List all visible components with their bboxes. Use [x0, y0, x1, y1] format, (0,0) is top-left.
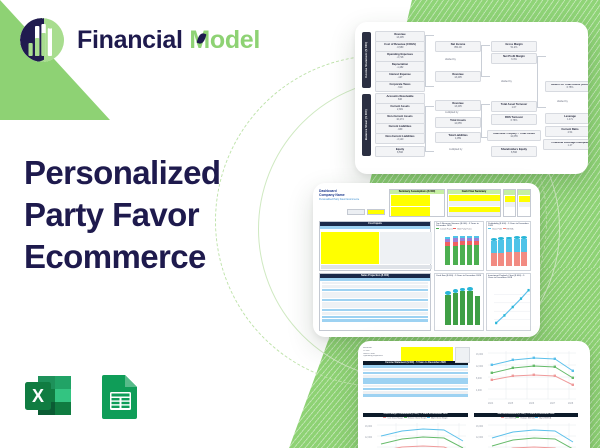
file-format-icons: X [22, 370, 146, 422]
tree-node: Non-Current Liabilities-3,120 [375, 133, 425, 144]
revenue-profit-chart: 16,00012,000 8,0004,000 2024202520262027… [474, 347, 578, 405]
headline-line-2: Party Favor [24, 194, 289, 236]
tree-node: Revenue13,495 [435, 100, 481, 111]
tree-node: Equity8,596 [375, 146, 425, 157]
summary-panel: Summary Assumptions ($ 000) [389, 189, 445, 217]
dupont-analysis-card[interactable]: Income Statement ($ 000) Balance Sheet (… [355, 22, 588, 174]
brand-logo[interactable]: Financial Model [18, 16, 260, 64]
svg-text:12,000: 12,000 [476, 437, 484, 439]
svg-text:12,000: 12,000 [365, 437, 373, 439]
svg-text:2026: 2026 [529, 403, 535, 405]
svg-text:8,000: 8,000 [476, 378, 482, 380]
tree-node: Corporate Taxes-510 [375, 81, 425, 92]
tree-operator: multiplied by [445, 111, 458, 114]
revenue-streams-chart: Top 5 Revenue Streams ($ 000) - 5 Years … [434, 221, 484, 271]
tree-operator: divided by [557, 100, 568, 103]
financial-model-circle-chart-logo [18, 16, 66, 64]
headline-line-3: Ecommerce [24, 236, 289, 278]
tree-node: ROS Turnover6.76% [491, 114, 537, 125]
income-statement-table: Revenue COGS Gross Profit Operating Expe… [363, 347, 468, 397]
section-label-balance-sheet: Balance Sheet ($ 000) [362, 94, 371, 156]
svg-text:4,000: 4,000 [476, 390, 482, 392]
tree-node: Gross Margin51.2% [491, 41, 537, 52]
tree-node: Financial Leverage multiplier1.47 [543, 139, 588, 150]
ebitda-chart: EBITDA Economics ($ 000) - 5 Years to De… [474, 413, 578, 448]
svg-text:16,000: 16,000 [476, 354, 484, 356]
financial-statements-card[interactable]: Revenue COGS Gross Profit Operating Expe… [358, 341, 590, 448]
brand-wordmark: Financial Model [77, 28, 260, 53]
cash-flow-chart: Cash flow ($ 000) - 5 Years to December … [434, 273, 484, 331]
google-sheets-icon[interactable] [94, 370, 146, 422]
tree-node: Shareholders Equity8,596 [491, 146, 537, 157]
statements-content: Revenue COGS Gross Profit Operating Expe… [358, 341, 590, 448]
dashboard-subtitle: Personalized Party Favor Ecommerce [319, 198, 359, 201]
svg-text:2025: 2025 [508, 403, 514, 405]
svg-text:12,000: 12,000 [476, 366, 484, 368]
tree-node: Total Debt + Equity = Total Assets12,655 [487, 130, 541, 141]
promo-banner: Financial Model Personalized Party Favor… [0, 0, 600, 448]
svg-text:16,000: 16,000 [476, 426, 484, 428]
headline-line-1: Personalized [24, 152, 289, 194]
svg-text:2024: 2024 [488, 403, 494, 405]
gross-margin-chart: Gross Margin / Economics ($ 000) - 5 Yea… [363, 413, 468, 448]
tree-node: Current Ratio2.54 [545, 126, 588, 137]
dashboard-card[interactable]: Dashboard Company Name Personalized Part… [313, 183, 540, 337]
svg-text:X: X [32, 386, 44, 406]
tree-operator: divided by [501, 80, 512, 83]
summary-panel [517, 189, 531, 217]
tree-node: Revenue13,495 [435, 71, 481, 82]
dashboard-content: Dashboard Company Name Personalized Part… [313, 183, 540, 337]
cost-projection-table: Sales Projection ($ 000) [319, 273, 431, 331]
summary-panel: Cash Flow Summary [447, 189, 501, 217]
svg-text:2027: 2027 [550, 403, 556, 405]
section-label-income-statement: Income Statement ($ 000) [362, 32, 371, 88]
summary-panel [503, 189, 516, 217]
tree-node: Total Asset Turnover1.07 [491, 101, 537, 112]
page-title: Personalized Party Favor Ecommerce [24, 152, 289, 278]
tree-connector [425, 106, 434, 152]
cost-inputs-table: Cost Inputs [319, 221, 431, 271]
brand-name-part1: Financial [77, 26, 183, 54]
tree-operator: divided by [445, 58, 456, 61]
payback-chart: Investment Payback Chart ($ 000) - 5 Yea… [486, 273, 531, 331]
tree-node: Leverage1.47x [545, 113, 588, 124]
tree-connector [425, 35, 434, 87]
tree-operator: multiplied by [449, 148, 462, 151]
dashboard-heading: Dashboard Company Name Personalized Part… [319, 189, 359, 201]
dashboard-highlight-button[interactable] [367, 209, 385, 215]
svg-text:2028: 2028 [568, 403, 574, 405]
tree-node: Net Income854.00 [435, 41, 481, 52]
dashboard-button[interactable] [347, 209, 365, 215]
tree-node: Total Liabilities4,059 [435, 132, 481, 143]
tree-node: Return on Total Assets (ROA)6.75% [545, 81, 588, 92]
profitability-chart: Profitability ($ 000) - 5 Years to Decem… [486, 221, 531, 271]
tree-node: Net Profit Margin6.3% [491, 53, 537, 64]
microsoft-excel-icon[interactable]: X [22, 370, 74, 422]
tree-connector [481, 45, 490, 77]
dupont-tree: Income Statement ($ 000) Balance Sheet (… [355, 22, 588, 174]
svg-text:16,000: 16,000 [365, 426, 373, 428]
tree-node: Total Assets12,655 [435, 117, 481, 128]
